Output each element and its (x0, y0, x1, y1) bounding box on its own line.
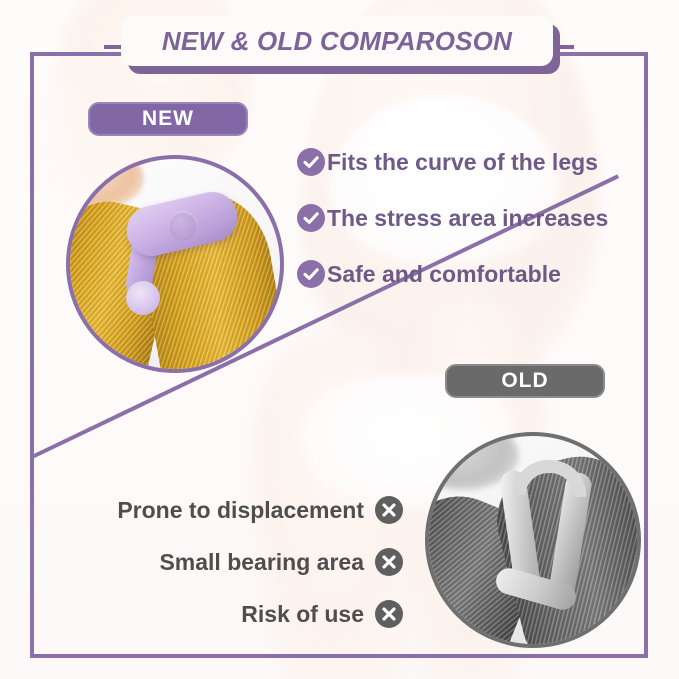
check-circle-icon (297, 260, 325, 288)
list-item-label: Small bearing area (159, 549, 364, 576)
check-circle-icon (297, 204, 325, 232)
badge-new: NEW (88, 102, 248, 136)
new-product-photo (66, 155, 284, 373)
badge-old-label: OLD (501, 369, 548, 393)
x-circle-icon (375, 496, 403, 524)
list-item-label: Safe and comfortable (327, 261, 561, 288)
new-photo-clip-knob (168, 211, 198, 241)
check-circle-icon (297, 148, 325, 176)
new-feature-list: Fits the curve of the legs The stress ar… (297, 134, 657, 302)
title-banner: NEW & OLD COMPAROSON (121, 16, 553, 66)
old-drawback-list: Prone to displacement Small bearing area… (58, 484, 403, 640)
list-item-label: The stress area increases (327, 205, 608, 232)
new-photo-clip-foot (126, 281, 160, 315)
comparison-infographic: NEW & OLD COMPAROSON NEW Fits the curve … (0, 0, 679, 679)
list-item: Small bearing area (58, 536, 403, 588)
list-item: The stress area increases (297, 190, 657, 246)
badge-new-label: NEW (142, 107, 194, 131)
list-item: Fits the curve of the legs (297, 134, 657, 190)
x-circle-icon (375, 600, 403, 628)
list-item-label: Fits the curve of the legs (327, 149, 598, 176)
old-product-photo (425, 432, 641, 648)
x-circle-icon (375, 548, 403, 576)
list-item: Safe and comfortable (297, 246, 657, 302)
list-item: Prone to displacement (58, 484, 403, 536)
list-item-label: Risk of use (241, 601, 364, 628)
page-title: NEW & OLD COMPAROSON (162, 26, 512, 57)
list-item-label: Prone to displacement (117, 497, 364, 524)
badge-old: OLD (445, 364, 605, 398)
list-item: Risk of use (58, 588, 403, 640)
